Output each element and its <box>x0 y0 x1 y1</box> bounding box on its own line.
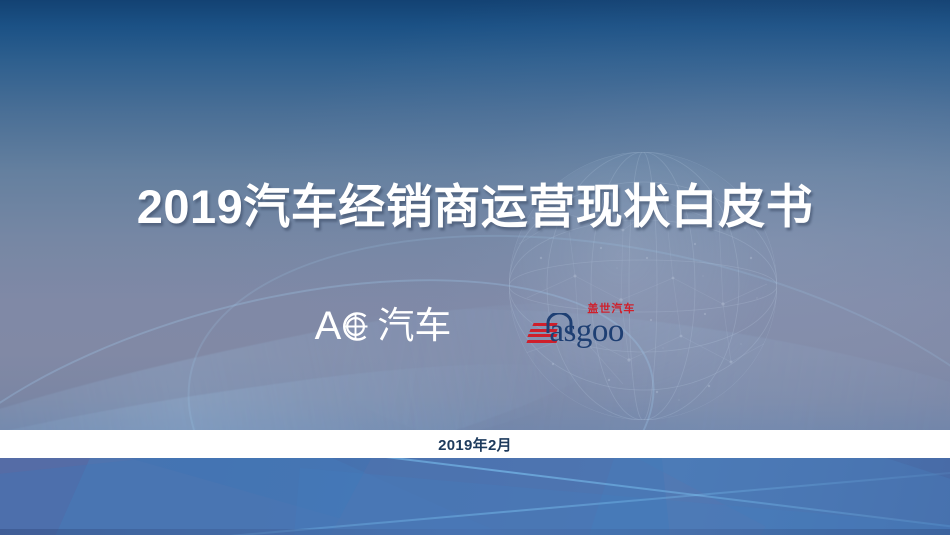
ac-auto-logo: A 汽车 <box>315 306 452 346</box>
gasgoo-logo: 盖世汽车 asgoo <box>527 303 635 349</box>
bottom-decorative-band <box>0 458 950 535</box>
report-cover-slide: 2019汽车经销商运营现状白皮书 A 汽车 盖世汽车 <box>0 0 950 535</box>
page-title: 2019汽车经销商运营现状白皮书 <box>0 178 950 236</box>
footer-strip <box>0 529 950 535</box>
ac-logo-letter-a: A <box>315 306 341 346</box>
logo-row: A 汽车 盖世汽车 asgoo <box>0 298 950 354</box>
publication-date: 2019年2月 <box>438 434 512 455</box>
gasgoo-wordmark: asgoo <box>549 314 624 348</box>
date-band: 2019年2月 <box>0 430 950 458</box>
ac-logo-chinese: 汽车 <box>377 307 451 345</box>
crosshair-target-icon <box>339 310 372 343</box>
